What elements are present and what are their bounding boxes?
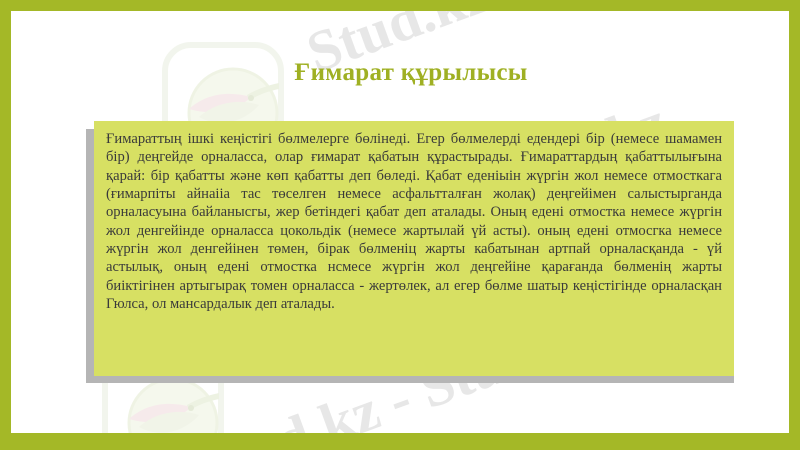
slide-title: Ғимарат құрылысы — [11, 59, 789, 87]
content-box: Ғимараттың ішкі кеңістігі бөлмелерге бөл… — [94, 121, 734, 376]
slide-root: Stud.kz - Stud.kz Stud.kz - Stud.kz Stud… — [0, 0, 800, 450]
slide-canvas: Stud.kz - Stud.kz Stud.kz - Stud.kz Stud… — [11, 11, 789, 433]
slide-body-text: Ғимараттың ішкі кеңістігі бөлмелерге бөл… — [106, 130, 722, 313]
